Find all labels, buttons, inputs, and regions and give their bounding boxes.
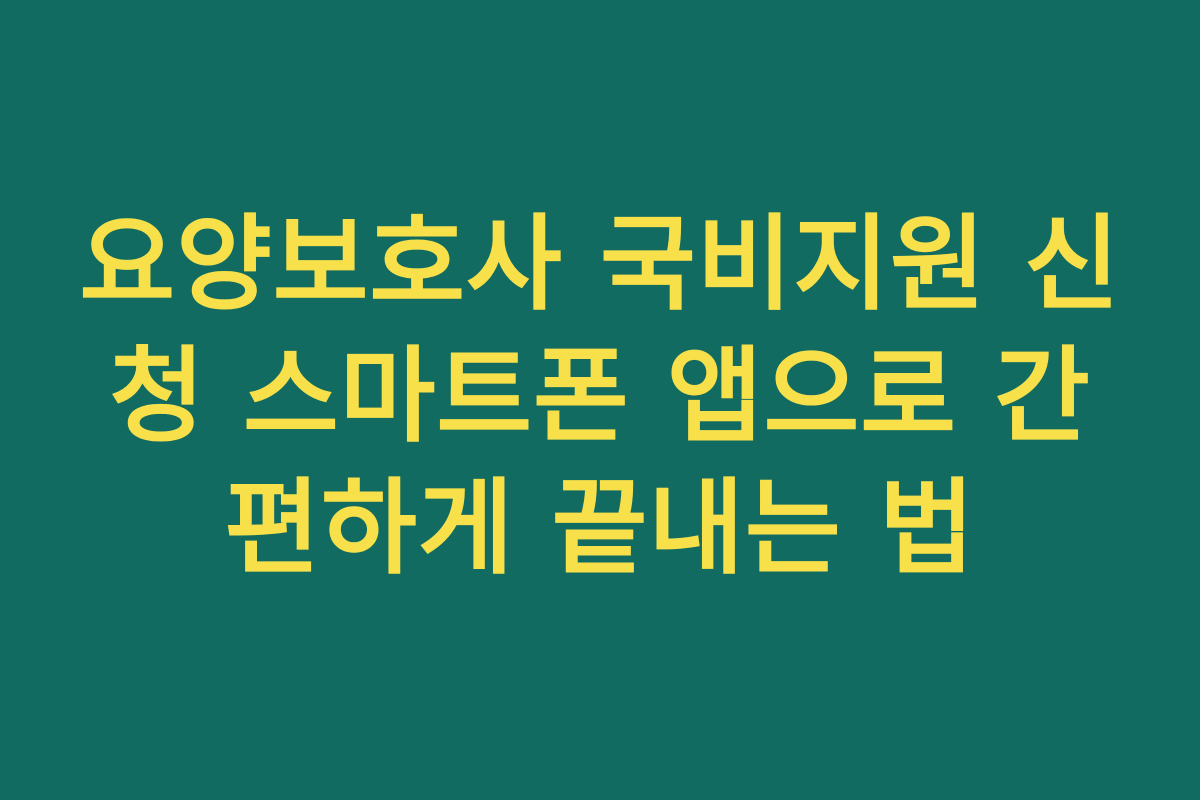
banner-title-block: 요양보호사 국비지원 신 청 스마트폰 앱으로 간 편하게 끝내는 법 <box>70 198 1130 594</box>
banner-title-line-3: 편하게 끝내는 법 <box>70 462 1130 594</box>
banner-title-line-2: 청 스마트폰 앱으로 간 <box>70 330 1130 462</box>
thumbnail-banner: 요양보호사 국비지원 신 청 스마트폰 앱으로 간 편하게 끝내는 법 <box>0 0 1200 800</box>
banner-title-line-1: 요양보호사 국비지원 신 <box>70 198 1130 330</box>
